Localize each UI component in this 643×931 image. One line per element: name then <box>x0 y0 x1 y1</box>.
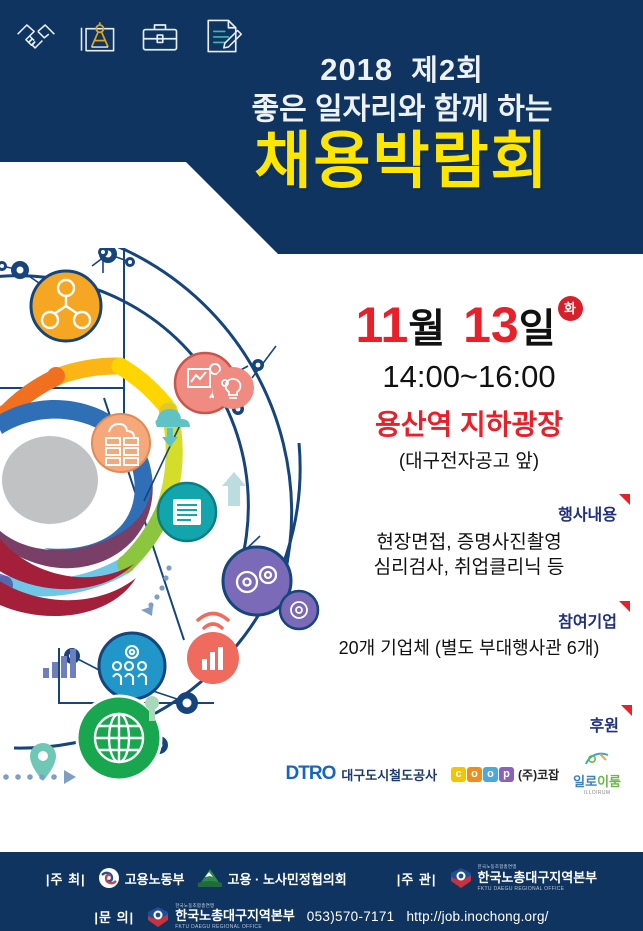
title-year: 2018 <box>320 52 393 87</box>
coop-letter-o2: o <box>483 767 498 782</box>
sponsor-block: 후원 DTRO 대구도시철도공사 c o o p (주)코잡 <box>271 712 621 796</box>
companies-line-1: 20개 기업체 (별도 부대행사관 6개) <box>319 637 619 661</box>
event-date: 11월 13일화 <box>355 300 582 350</box>
illoirum-mark-icon <box>584 752 610 766</box>
coop-letter-o1: o <box>467 767 482 782</box>
fktu-logo <box>449 867 473 889</box>
contact-phone: 053)570-7171 <box>307 909 395 924</box>
date-month-unit: 월 <box>408 307 445 351</box>
dtro-mark: DTRO <box>286 763 336 785</box>
date-day-number: 13 <box>463 297 519 353</box>
fktu-sub: FKTU DAEGU REGIONAL OFFICE <box>478 887 598 892</box>
cloud-download-icon <box>156 409 191 447</box>
footer-row-contact: |문 의| 한국노동조합총연맹 한국노총대구지역본부 FKTU DAEGU RE… <box>0 904 643 931</box>
event-info-column: 11월 13일화 14:00~16:00 용산역 지하광장 (대구전자공고 앞)… <box>319 300 619 661</box>
event-place: 용산역 지하광장 <box>319 403 619 443</box>
title-block: 2018 제2회 좋은 일자리와 함께 하는 채용박람회 <box>187 54 617 193</box>
footer-row-hosts: |주 최| 고용노동부 고용 · 노사민정협의회 |주 관| <box>0 865 643 892</box>
coop-letter-c: c <box>451 767 466 782</box>
coop-name: (주)코잡 <box>518 766 559 783</box>
fktu-name: 한국노총대구지역본부 <box>478 870 598 885</box>
illoirum-subtitle: ILLOIRUM <box>573 790 621 796</box>
section-program-label: 행사내용 <box>558 501 619 525</box>
briefcase-icon <box>138 14 182 58</box>
sponsor-label: 후원 <box>590 712 621 736</box>
contact-label: |문 의| <box>94 907 134 926</box>
section-companies-body: 20개 기업체 (별도 부대행사관 6개) <box>319 637 619 661</box>
up-arrow-icon <box>222 472 246 506</box>
moel-logo <box>98 867 120 889</box>
title-line-year-edition: 2018 제2회 <box>187 54 617 86</box>
fktu-sub: FKTU DAEGU REGIONAL OFFICE <box>175 925 295 930</box>
moel-org: 고용노동부 <box>98 867 185 889</box>
gears-network-node <box>31 271 101 341</box>
document-node <box>158 483 216 541</box>
event-time: 14:00~16:00 <box>319 359 619 395</box>
bar-chart-node <box>187 632 239 684</box>
dtro-name: 대구도시철도공사 <box>341 765 437 784</box>
bulb-node <box>212 367 254 409</box>
host-label: |주 최| <box>46 869 86 888</box>
flag-marker-icon <box>619 494 630 505</box>
fktu-name: 한국노총대구지역본부 <box>175 908 295 923</box>
section-program: 행사내용 현장면접, 증명사진촬영 심리검사, 취업클리닉 등 <box>319 501 619 580</box>
council-org: 고용 · 노사민정협의회 <box>197 868 347 888</box>
council-logo <box>197 868 223 888</box>
team-gear-node <box>99 633 165 699</box>
title-main: 채용박람회 <box>187 131 617 193</box>
footer-bar: |주 최| 고용노동부 고용 · 노사민정협의회 |주 관| <box>0 852 643 931</box>
illoirum-logo: 일로이룸 ILLOIRUM <box>573 752 621 796</box>
header-icon-row <box>14 14 244 58</box>
section-companies: 참여기업 20개 기업체 (별도 부대행사관 6개) <box>319 608 619 661</box>
dtro-logo: DTRO 대구도시철도공사 <box>286 763 438 785</box>
section-program-body: 현장면접, 증명사진촬영 심리검사, 취업클리닉 등 <box>319 530 619 580</box>
drafting-compass-icon <box>76 14 120 58</box>
program-line-2: 심리검사, 취업클리닉 등 <box>319 555 619 580</box>
cloud-server-node <box>92 414 150 472</box>
document-pen-icon <box>200 14 244 58</box>
flag-marker-icon <box>621 705 632 716</box>
council-name: 고용 · 노사민정협의회 <box>228 869 347 888</box>
program-line-1: 현장면접, 증명사진촬영 <box>319 530 619 555</box>
sponsor-logo-row: DTRO 대구도시철도공사 c o o p (주)코잡 일로이룸 <box>271 752 621 796</box>
handshake-icon <box>14 14 58 58</box>
poster-root: 2018 제2회 좋은 일자리와 함께 하는 채용박람회 <box>0 0 643 931</box>
manage-label: |주 관| <box>397 869 437 888</box>
section-companies-label: 참여기업 <box>558 608 619 632</box>
date-day-unit: 일 <box>519 307 556 351</box>
illoirum-name: 일로이룸 <box>573 771 621 790</box>
flag-marker-icon <box>619 601 630 612</box>
date-month-number: 11 <box>355 297 408 353</box>
fktu-logo <box>146 906 170 928</box>
fktu-org-contact: 한국노동조합총연맹 한국노총대구지역본부 FKTU DAEGU REGIONAL… <box>146 904 295 931</box>
title-subtitle: 좋은 일자리와 함께 하는 <box>187 95 617 125</box>
coop-letter-marks: c o o p <box>451 767 514 782</box>
event-place-note: (대구전자공고 앞) <box>319 446 619 473</box>
title-edition: 제2회 <box>411 55 484 87</box>
contact-url[interactable]: http://job.inochong.org/ <box>406 909 548 924</box>
coop-letter-p: p <box>499 767 514 782</box>
fktu-name-stack: 한국노동조합총연맹 한국노총대구지역본부 FKTU DAEGU REGIONAL… <box>478 865 598 892</box>
fktu-name-stack: 한국노동조합총연맹 한국노총대구지역본부 FKTU DAEGU REGIONAL… <box>175 904 295 931</box>
twin-gears-node <box>223 547 318 629</box>
moel-name: 고용노동부 <box>125 869 185 888</box>
weekday-badge: 화 <box>558 296 583 321</box>
fktu-org-manage: 한국노동조합총연맹 한국노총대구지역본부 FKTU DAEGU REGIONAL… <box>449 865 598 892</box>
coop-logo: c o o p (주)코잡 <box>451 766 559 783</box>
